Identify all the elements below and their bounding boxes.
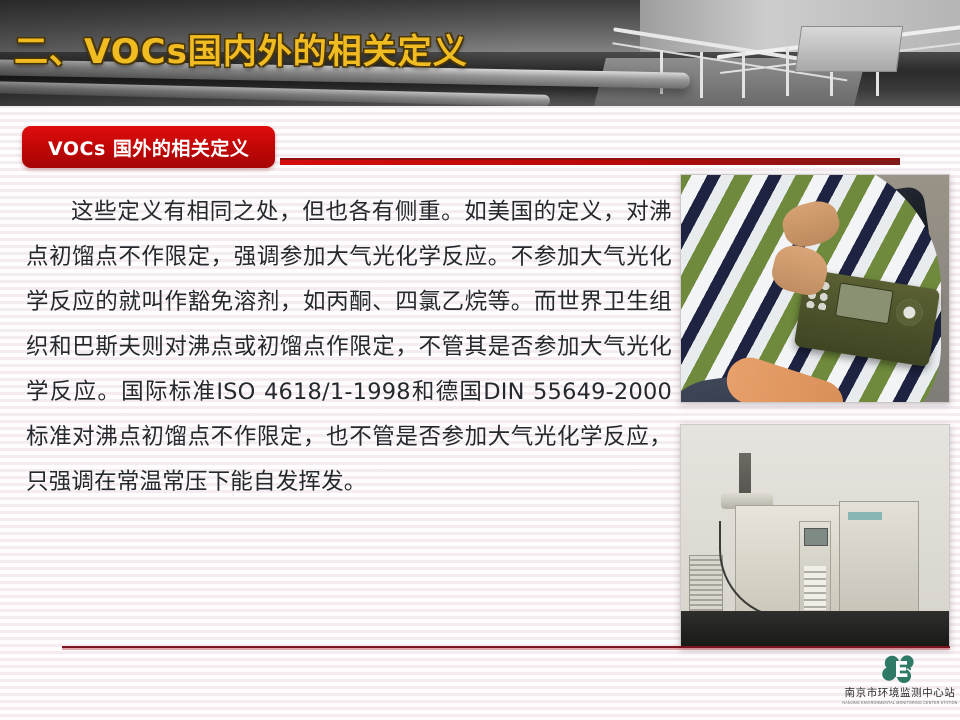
section-rule-thin	[280, 158, 900, 160]
field-sampling-photo	[680, 174, 950, 403]
header-banner: 二、VOCs国内外的相关定义	[0, 0, 960, 106]
footer-rule-highlight	[62, 648, 950, 650]
photo-lab-bench	[681, 611, 949, 647]
logo-name-cn: 南京市环境监测中心站	[845, 685, 956, 700]
section-header: VOCs 国外的相关定义	[0, 126, 960, 172]
photo-analyzer-screen	[835, 282, 894, 324]
section-tab-label: VOCs 国外的相关定义	[48, 134, 249, 161]
logo-name-en: NANJING ENVIRONMENTAL MONITORING CENTER …	[842, 701, 957, 706]
clover-e-icon	[880, 654, 920, 684]
slide-canvas: 二、VOCs国内外的相关定义 VOCs 国外的相关定义 这些定义有相同之处，但也…	[0, 0, 960, 720]
photo-analyzer-dpad	[894, 298, 924, 328]
lab-instrument-photo	[680, 424, 950, 648]
section-tab[interactable]: VOCs 国外的相关定义	[22, 126, 275, 168]
photo-ms-cabinet	[839, 501, 919, 625]
page-title: 二、VOCs国内外的相关定义	[14, 24, 468, 73]
organization-logo: 南京市环境监测中心站 NANJING ENVIRONMENTAL MONITOR…	[848, 654, 952, 708]
body-text-block: 这些定义有相同之处，但也各有侧重。如美国的定义，对沸点初馏点不作限定，强调参加大…	[26, 190, 672, 505]
photo-cabinet-label	[848, 512, 882, 520]
body-paragraph: 这些定义有相同之处，但也各有侧重。如美国的定义，对沸点初馏点不作限定，强调参加大…	[26, 190, 672, 505]
